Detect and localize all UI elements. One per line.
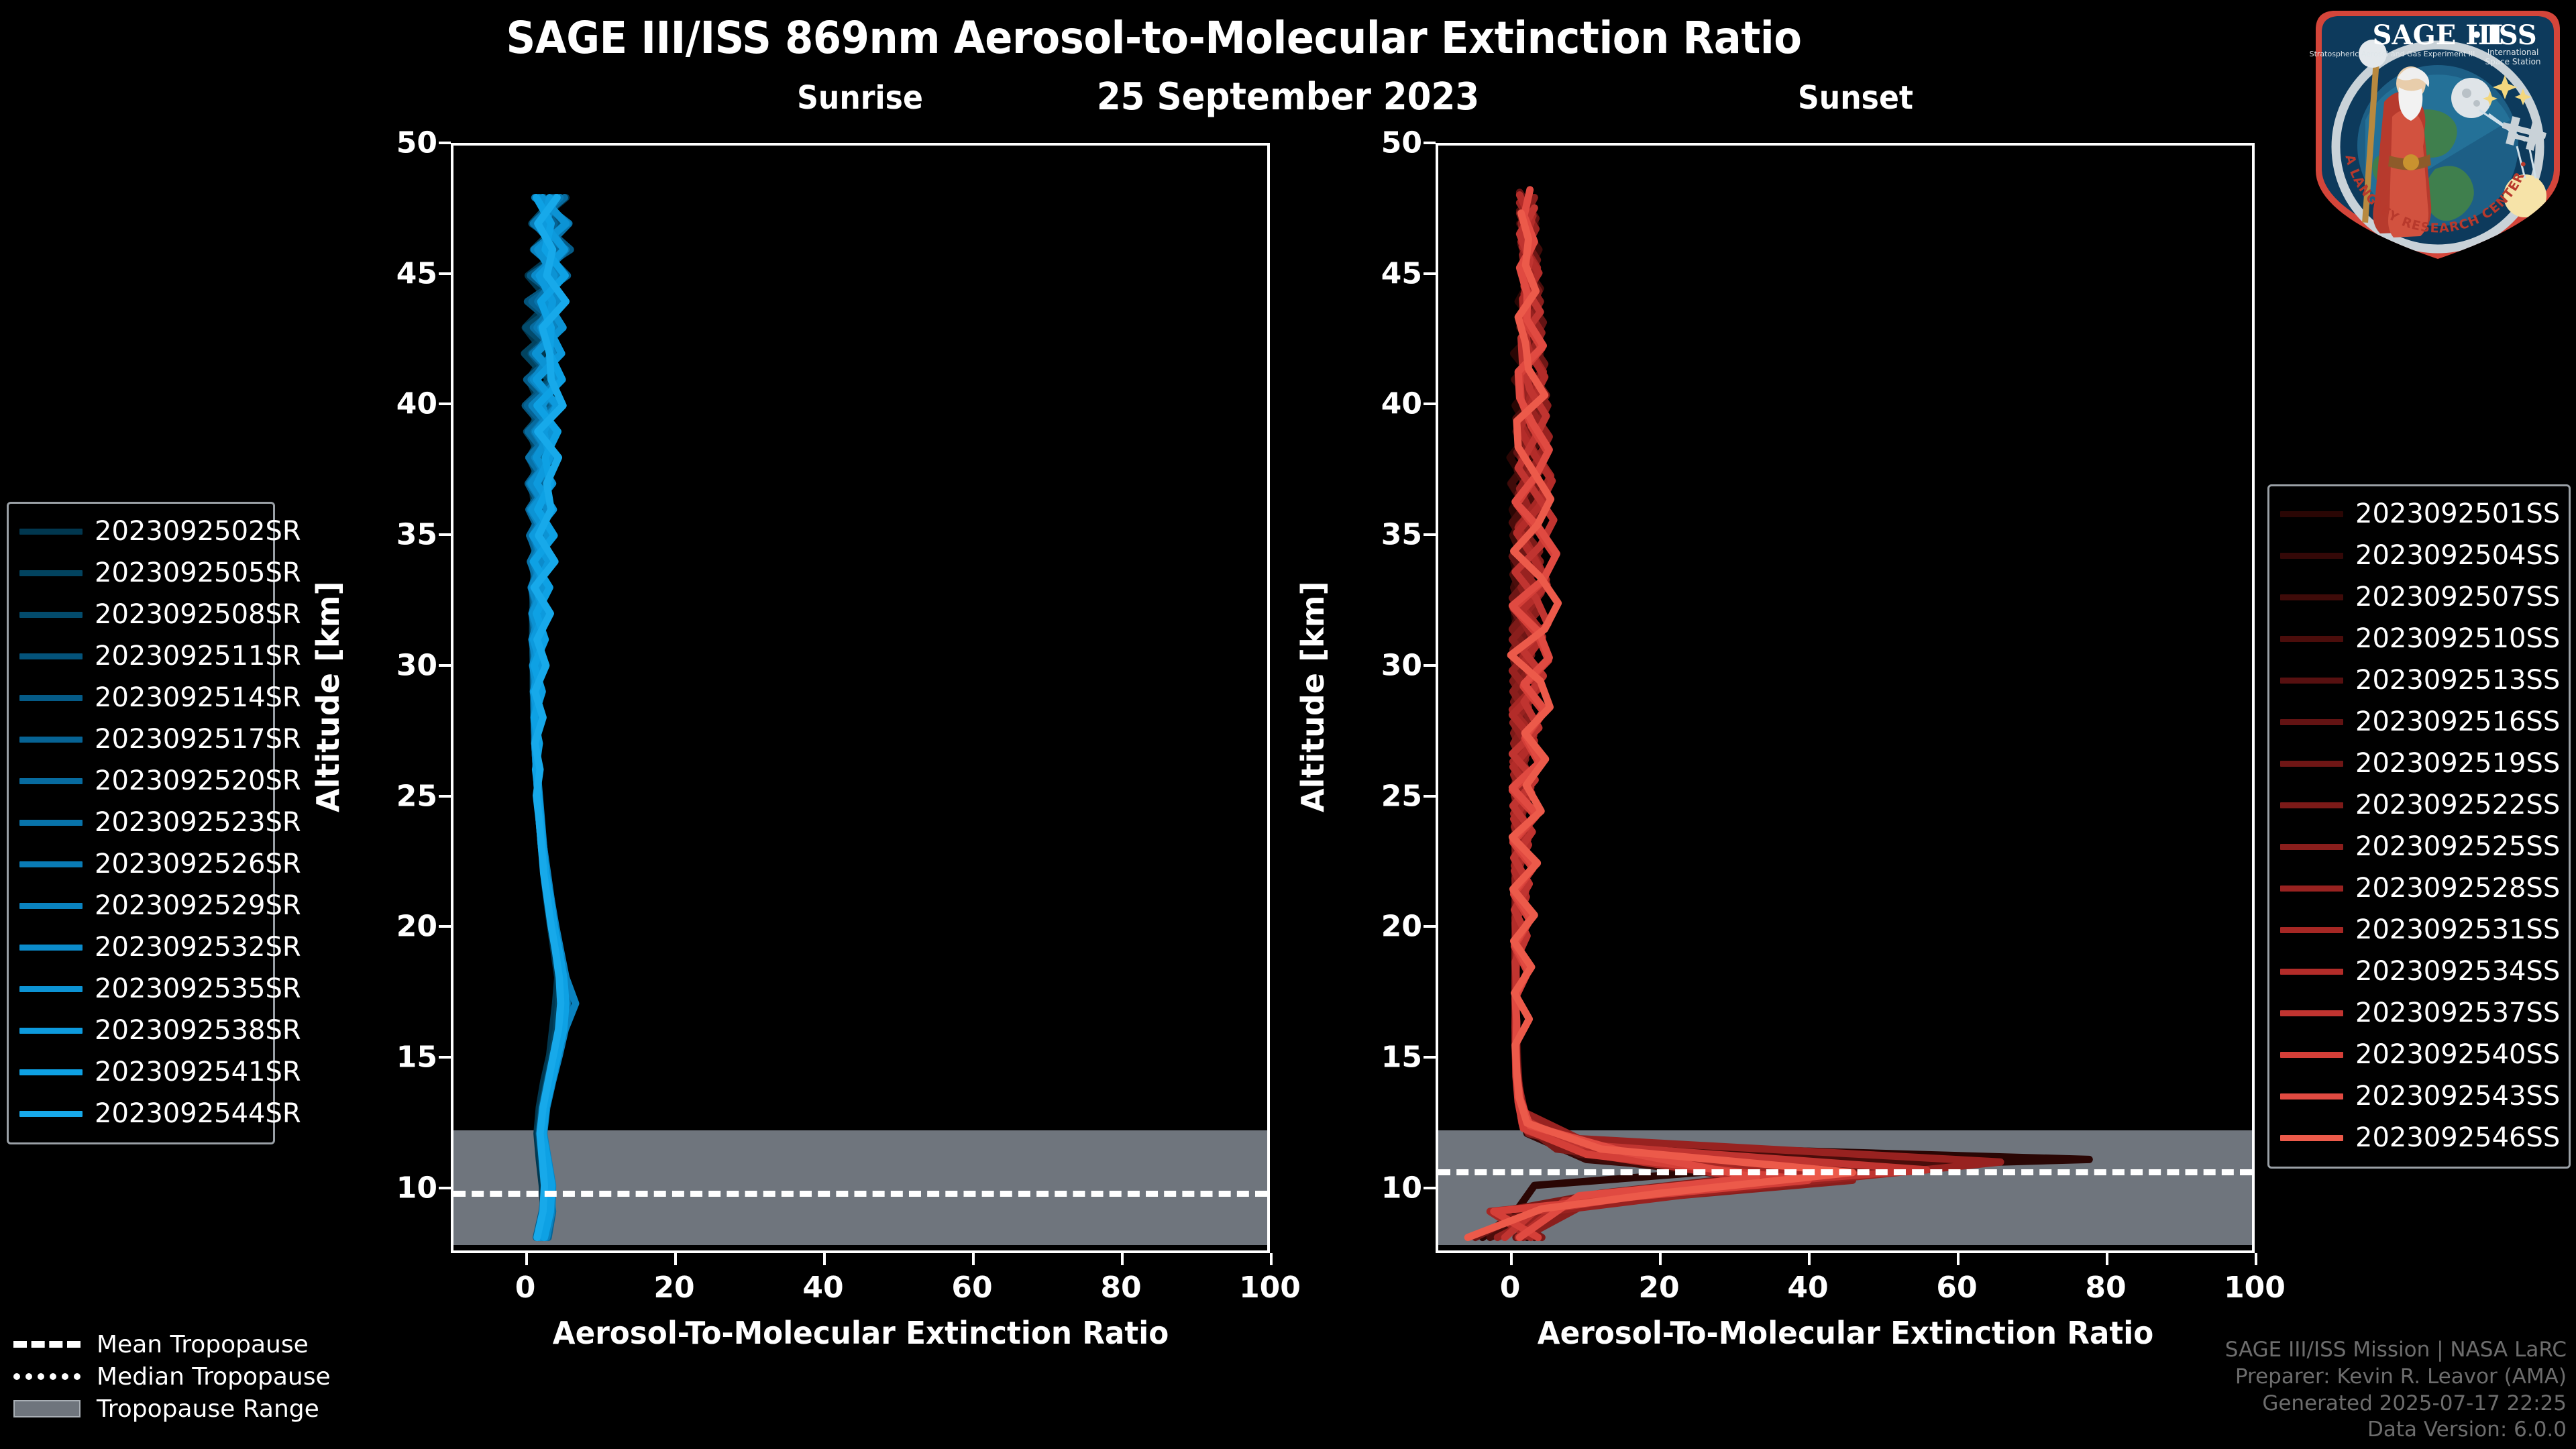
legend-item[interactable]: 2023092520SR bbox=[19, 760, 262, 802]
y-axis-tick-mark bbox=[1424, 142, 1436, 144]
mean-tropopause-line-sunset bbox=[1438, 1169, 2252, 1175]
legend-item[interactable]: 2023092526SR bbox=[19, 843, 262, 885]
legend-label: 2023092535SR bbox=[95, 973, 301, 1004]
dashed-line-icon bbox=[13, 1338, 80, 1351]
filled-band-icon bbox=[13, 1402, 80, 1415]
legend-item[interactable]: 2023092513SS bbox=[2280, 659, 2558, 701]
series-line bbox=[1512, 198, 1852, 1238]
legend-color-swatch bbox=[19, 1069, 83, 1075]
x-axis-tick-label: 100 bbox=[1216, 1271, 1324, 1305]
x-axis-tick-mark bbox=[2255, 1253, 2257, 1265]
y-axis-tick-label: 35 bbox=[1342, 518, 1422, 552]
logo-subtitle-iss-1: International bbox=[2487, 48, 2539, 57]
y-axis-tick-label: 50 bbox=[1342, 126, 1422, 160]
x-axis-tick-mark bbox=[674, 1253, 677, 1265]
y-axis-tick-label: 25 bbox=[357, 779, 437, 813]
legend-item[interactable]: 2023092511SR bbox=[19, 635, 262, 677]
legend-item[interactable]: 2023092505SR bbox=[19, 552, 262, 594]
x-axis-tick-mark bbox=[972, 1253, 975, 1265]
legend-label: 2023092541SR bbox=[95, 1057, 301, 1087]
legend-color-swatch bbox=[2280, 511, 2343, 517]
legend-color-swatch bbox=[2280, 1010, 2343, 1016]
legend-label-mean-tropopause: Mean Tropopause bbox=[97, 1331, 309, 1358]
legend-item[interactable]: 2023092517SR bbox=[19, 718, 262, 760]
legend-color-swatch bbox=[2280, 1052, 2343, 1058]
x-axis-tick-label: 80 bbox=[2052, 1271, 2159, 1305]
y-axis-tick-mark bbox=[1424, 1056, 1436, 1059]
x-axis-tick-label: 60 bbox=[1903, 1271, 2010, 1305]
legend-sunrise[interactable]: 2023092502SR2023092505SR2023092508SR2023… bbox=[7, 502, 275, 1144]
legend-label: 2023092538SR bbox=[95, 1015, 301, 1046]
legend-color-swatch bbox=[19, 570, 83, 576]
legend-color-swatch bbox=[2280, 636, 2343, 642]
y-axis-tick-mark bbox=[1424, 272, 1436, 275]
y-axis-tick-label: 30 bbox=[357, 648, 437, 682]
legend-color-swatch bbox=[2280, 844, 2343, 850]
y-axis-tick-label: 45 bbox=[1342, 256, 1422, 290]
legend-item[interactable]: 2023092528SS bbox=[2280, 867, 2558, 909]
credits-line-generated: Generated 2025-07-17 22:25 bbox=[2225, 1391, 2567, 1417]
series-line bbox=[1512, 190, 1756, 1238]
y-axis-tick-label: 40 bbox=[357, 387, 437, 421]
legend-label: 2023092534SS bbox=[2355, 956, 2560, 987]
legend-color-swatch bbox=[19, 861, 83, 867]
legend-label: 2023092544SR bbox=[95, 1098, 301, 1129]
x-axis-tick-label: 20 bbox=[621, 1271, 728, 1305]
series-curves-sunset bbox=[1438, 146, 2252, 1250]
y-axis-tick-mark bbox=[439, 664, 451, 667]
legend-item[interactable]: 2023092519SS bbox=[2280, 743, 2558, 784]
legend-label: 2023092508SR bbox=[95, 599, 301, 630]
legend-item[interactable]: 2023092516SS bbox=[2280, 701, 2558, 743]
legend-item[interactable]: 2023092541SR bbox=[19, 1051, 262, 1093]
legend-color-swatch bbox=[19, 1111, 83, 1117]
y-axis-tick-label: 20 bbox=[1342, 910, 1422, 944]
legend-item[interactable]: 2023092529SR bbox=[19, 885, 262, 926]
series-line bbox=[1505, 223, 1837, 1237]
legend-item[interactable]: 2023092514SR bbox=[19, 677, 262, 718]
y-axis-tick-mark bbox=[439, 1187, 451, 1189]
legend-label: 2023092537SS bbox=[2355, 998, 2560, 1028]
legend-item[interactable]: 2023092538SR bbox=[19, 1010, 262, 1051]
legend-item[interactable]: 2023092510SS bbox=[2280, 618, 2558, 659]
y-axis-tick-label: 30 bbox=[1342, 648, 1422, 682]
legend-label: 2023092523SR bbox=[95, 807, 301, 838]
panel-title-sunset: Sunset bbox=[1670, 79, 2041, 117]
legend-color-swatch bbox=[2280, 927, 2343, 933]
legend-color-swatch bbox=[19, 820, 83, 826]
legend-label: 2023092511SR bbox=[95, 641, 301, 672]
legend-item[interactable]: 2023092507SS bbox=[2280, 576, 2558, 618]
y-axis-tick-mark bbox=[1424, 795, 1436, 798]
x-axis-tick-label: 0 bbox=[1456, 1271, 1564, 1305]
x-axis-tick-mark bbox=[1270, 1253, 1273, 1265]
y-axis-tick-label: 15 bbox=[1342, 1040, 1422, 1074]
credits-line-mission: SAGE III/ISS Mission | NASA LaRC bbox=[2225, 1337, 2567, 1364]
legend-label: 2023092501SS bbox=[2355, 498, 2560, 529]
legend-item[interactable]: 2023092508SR bbox=[19, 594, 262, 635]
credits-block: SAGE III/ISS Mission | NASA LaRC Prepare… bbox=[2225, 1337, 2567, 1444]
legend-color-swatch bbox=[2280, 1093, 2343, 1099]
legend-item-median-tropopause: Median Tropopause bbox=[13, 1360, 389, 1393]
y-axis-tick-label: 25 bbox=[1342, 779, 1422, 813]
x-axis-tick-mark bbox=[1808, 1253, 1811, 1265]
logo-title-iss: ISS bbox=[2486, 19, 2537, 51]
panel-title-sunrise: Sunrise bbox=[675, 79, 1045, 117]
legend-item[interactable]: 2023092525SS bbox=[2280, 826, 2558, 867]
legend-label: 2023092546SS bbox=[2355, 1122, 2560, 1153]
legend-item[interactable]: 2023092531SS bbox=[2280, 909, 2558, 951]
logo-subtitle-iss-2: Space Station bbox=[2485, 57, 2540, 66]
legend-color-swatch bbox=[19, 529, 83, 535]
legend-item[interactable]: 2023092502SR bbox=[19, 511, 262, 552]
y-axis-tick-mark bbox=[1424, 1187, 1436, 1189]
legend-color-swatch bbox=[19, 1028, 83, 1034]
y-axis-label: Altitude [km] bbox=[310, 581, 346, 812]
y-axis-tick-mark bbox=[439, 1056, 451, 1059]
legend-item-tropopause-range: Tropopause Range bbox=[13, 1393, 389, 1425]
legend-label: 2023092532SR bbox=[95, 932, 301, 963]
y-axis-tick-label: 35 bbox=[357, 518, 437, 552]
legend-label: 2023092513SS bbox=[2355, 665, 2560, 696]
mean-tropopause-line-sunrise bbox=[453, 1191, 1267, 1197]
series-line bbox=[1483, 223, 2089, 1237]
y-axis-tick-mark bbox=[439, 533, 451, 536]
y-axis-label: Altitude [km] bbox=[1295, 581, 1331, 812]
x-axis-tick-mark bbox=[1659, 1253, 1662, 1265]
credits-line-version: Data Version: 6.0.0 bbox=[2225, 1417, 2567, 1444]
legend-color-swatch bbox=[2280, 594, 2343, 600]
x-axis-tick-label: 40 bbox=[769, 1271, 877, 1305]
legend-item[interactable]: 2023092522SS bbox=[2280, 784, 2558, 826]
y-axis-tick-mark bbox=[439, 142, 451, 144]
y-axis-tick-mark bbox=[439, 402, 451, 405]
y-axis-tick-label: 50 bbox=[357, 126, 437, 160]
x-axis-label: Aerosol-To-Molecular Extinction Ratio bbox=[415, 1315, 1307, 1351]
legend-item[interactable]: 2023092543SS bbox=[2280, 1075, 2558, 1117]
legend-label: 2023092504SS bbox=[2355, 540, 2560, 571]
series-curves-sunrise bbox=[453, 146, 1267, 1250]
legend-item[interactable]: 2023092534SS bbox=[2280, 951, 2558, 992]
legend-label: 2023092540SS bbox=[2355, 1039, 2560, 1070]
page-title: SAGE III/ISS 869nm Aerosol-to-Molecular … bbox=[93, 12, 2216, 64]
legend-item-mean-tropopause: Mean Tropopause bbox=[13, 1328, 389, 1360]
figure-root: SAGE III/ISS 869nm Aerosol-to-Molecular … bbox=[0, 0, 2576, 1449]
series-line bbox=[1497, 203, 2000, 1237]
legend-item[interactable]: 2023092501SS bbox=[2280, 493, 2558, 535]
x-axis-tick-mark bbox=[823, 1253, 826, 1265]
legend-color-swatch bbox=[2280, 802, 2343, 808]
legend-color-swatch bbox=[19, 737, 83, 743]
y-axis-tick-mark bbox=[1424, 402, 1436, 405]
legend-label: 2023092510SS bbox=[2355, 623, 2560, 654]
x-axis-tick-label: 0 bbox=[472, 1271, 579, 1305]
y-axis-tick-label: 20 bbox=[357, 910, 437, 944]
legend-label: 2023092531SS bbox=[2355, 914, 2560, 945]
x-axis-tick-mark bbox=[525, 1253, 528, 1265]
legend-color-swatch bbox=[2280, 553, 2343, 559]
x-axis-tick-mark bbox=[1510, 1253, 1513, 1265]
legend-item[interactable]: 2023092546SS bbox=[2280, 1117, 2558, 1159]
x-axis-tick-label: 20 bbox=[1605, 1271, 1713, 1305]
dotted-line-icon bbox=[13, 1370, 80, 1383]
legend-color-swatch bbox=[19, 986, 83, 992]
legend-color-swatch bbox=[2280, 885, 2343, 892]
legend-color-swatch bbox=[19, 612, 83, 618]
sage-iii-iss-mission-patch-icon: SAGE III • ISS Stratospheric Aerosol and… bbox=[2304, 3, 2572, 266]
y-axis-tick-mark bbox=[439, 272, 451, 275]
legend-label: 2023092526SR bbox=[95, 849, 301, 879]
legend-label: 2023092502SR bbox=[95, 516, 301, 547]
legend-color-swatch bbox=[19, 903, 83, 909]
legend-label: 2023092529SR bbox=[95, 890, 301, 921]
legend-color-swatch bbox=[2280, 969, 2343, 975]
y-axis-tick-mark bbox=[1424, 925, 1436, 928]
legend-label: 2023092520SR bbox=[95, 765, 301, 796]
y-axis-tick-label: 10 bbox=[357, 1171, 437, 1205]
legend-label-median-tropopause: Median Tropopause bbox=[97, 1363, 331, 1391]
legend-label: 2023092517SR bbox=[95, 724, 301, 755]
legend-label-tropopause-range: Tropopause Range bbox=[97, 1395, 319, 1423]
x-axis-tick-mark bbox=[2106, 1253, 2108, 1265]
credits-line-preparer: Preparer: Kevin R. Leavor (AMA) bbox=[2225, 1364, 2567, 1391]
y-axis-tick-mark bbox=[439, 925, 451, 928]
legend-label: 2023092507SS bbox=[2355, 582, 2560, 612]
logo-title: SAGE III bbox=[2373, 19, 2504, 51]
legend-item[interactable]: 2023092540SS bbox=[2280, 1034, 2558, 1075]
y-axis-tick-mark bbox=[1424, 533, 1436, 536]
x-axis-tick-label: 80 bbox=[1067, 1271, 1175, 1305]
x-axis-label: Aerosol-To-Molecular Extinction Ratio bbox=[1399, 1315, 2292, 1351]
legend-sunset[interactable]: 2023092501SS2023092504SS2023092507SS2023… bbox=[2267, 484, 2571, 1169]
legend-label: 2023092516SS bbox=[2355, 706, 2560, 737]
y-axis-tick-label: 45 bbox=[357, 256, 437, 290]
legend-label: 2023092525SS bbox=[2355, 831, 2560, 862]
legend-color-swatch bbox=[2280, 1135, 2343, 1141]
legend-color-swatch bbox=[2280, 719, 2343, 725]
series-line bbox=[1512, 193, 1837, 1238]
plot-area-sunrise bbox=[451, 143, 1270, 1253]
x-axis-tick-mark bbox=[1121, 1253, 1124, 1265]
legend-item[interactable]: 2023092523SR bbox=[19, 802, 262, 843]
legend-color-swatch bbox=[19, 945, 83, 951]
legend-item[interactable]: 2023092537SS bbox=[2280, 992, 2558, 1034]
legend-label: 2023092505SR bbox=[95, 557, 301, 588]
logo-subtitle-sage: Stratospheric Aerosol and Gas Experiment… bbox=[2310, 50, 2475, 58]
series-line bbox=[1505, 208, 1927, 1238]
legend-color-swatch bbox=[2280, 761, 2343, 767]
series-line bbox=[1511, 198, 1749, 1238]
x-axis-tick-label: 60 bbox=[918, 1271, 1026, 1305]
y-axis-tick-label: 15 bbox=[357, 1040, 437, 1074]
legend-label: 2023092543SS bbox=[2355, 1081, 2560, 1112]
legend-color-swatch bbox=[19, 653, 83, 659]
y-axis-tick-label: 40 bbox=[1342, 387, 1422, 421]
x-axis-tick-mark bbox=[1957, 1253, 1960, 1265]
legend-label: 2023092519SS bbox=[2355, 748, 2560, 779]
legend-color-swatch bbox=[2280, 678, 2343, 684]
legend-tropopause: Mean Tropopause Median Tropopause Tropop… bbox=[13, 1328, 389, 1425]
legend-color-swatch bbox=[19, 695, 83, 701]
legend-label: 2023092528SS bbox=[2355, 873, 2560, 904]
y-axis-tick-label: 10 bbox=[1342, 1171, 1422, 1205]
legend-label: 2023092522SS bbox=[2355, 790, 2560, 820]
y-axis-tick-mark bbox=[439, 795, 451, 798]
legend-color-swatch bbox=[19, 778, 83, 784]
series-line bbox=[1512, 195, 1778, 1238]
plot-area-sunset bbox=[1436, 143, 2255, 1253]
legend-label: 2023092514SR bbox=[95, 682, 301, 713]
y-axis-tick-mark bbox=[1424, 664, 1436, 667]
page-subtitle: 25 September 2023 bbox=[967, 75, 1609, 119]
series-line bbox=[1490, 211, 1956, 1238]
x-axis-tick-label: 100 bbox=[2201, 1271, 2308, 1305]
legend-item[interactable]: 2023092544SR bbox=[19, 1093, 262, 1134]
legend-item[interactable]: 2023092532SR bbox=[19, 926, 262, 968]
logo-dot: • bbox=[2470, 22, 2483, 49]
legend-item[interactable]: 2023092504SS bbox=[2280, 535, 2558, 576]
x-axis-tick-label: 40 bbox=[1754, 1271, 1862, 1305]
legend-item[interactable]: 2023092535SR bbox=[19, 968, 262, 1010]
